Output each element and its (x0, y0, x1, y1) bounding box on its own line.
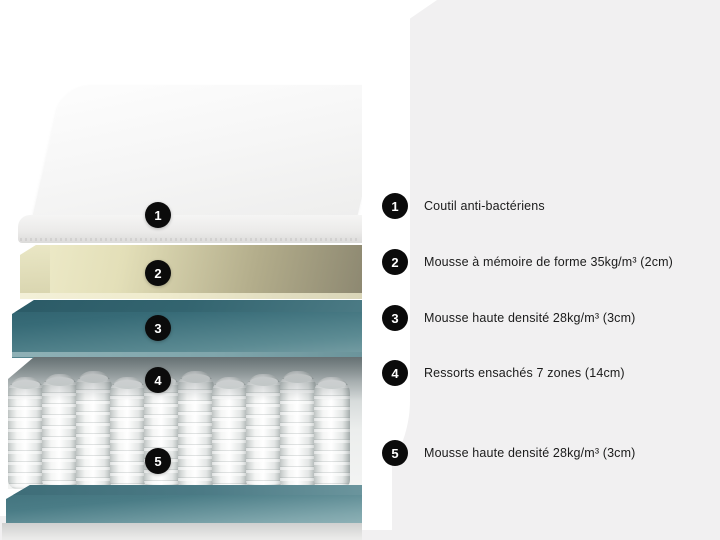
legend-item-4: 4Ressorts ensachés 7 zones (14cm) (382, 360, 625, 386)
legend-label-1: Coutil anti-bactériens (424, 199, 545, 213)
legend-badge-2: 2 (382, 249, 408, 275)
legend-item-2: 2Mousse à mémoire de forme 35kg/m³ (2cm) (382, 249, 673, 275)
pocket-spring (178, 371, 214, 489)
pocket-spring (212, 377, 248, 489)
layer-1-cover-top-surface (29, 85, 387, 230)
legend-item-5: 5Mousse haute densité 28kg/m³ (3cm) (382, 440, 635, 466)
layer-2-memory-foam-side (20, 245, 50, 298)
legend-label-3: Mousse haute densité 28kg/m³ (3cm) (424, 311, 635, 325)
pocket-spring (8, 377, 44, 489)
legend-label-4: Ressorts ensachés 7 zones (14cm) (424, 366, 625, 380)
pocket-spring (42, 374, 78, 489)
mattress-cutaway-illustration (0, 60, 365, 520)
diagram-badge-5: 5 (145, 448, 171, 474)
layer-1-cover-stitching (20, 238, 360, 241)
diagram-badge-4: 4 (145, 367, 171, 393)
layer-3-top-highlight (12, 300, 362, 312)
layer-4-pocket-springs (8, 357, 362, 489)
pocket-spring (280, 371, 316, 489)
infographic-canvas: 12345 1Coutil anti-bactériens2Mousse à m… (0, 0, 720, 540)
layer-2-memory-foam (20, 245, 362, 298)
diagram-badge-3: 3 (145, 315, 171, 341)
legend-label-5: Mousse haute densité 28kg/m³ (3cm) (424, 446, 635, 460)
diagram-badge-2: 2 (145, 260, 171, 286)
mattress-base-cover (2, 523, 362, 540)
legend-badge-1: 1 (382, 193, 408, 219)
legend-badge-4: 4 (382, 360, 408, 386)
legend-badge-3: 3 (382, 305, 408, 331)
legend-badge-5: 5 (382, 440, 408, 466)
pocket-spring (110, 377, 146, 489)
pocket-spring (246, 374, 282, 489)
legend-item-1: 1Coutil anti-bactériens (382, 193, 545, 219)
legend-item-3: 3Mousse haute densité 28kg/m³ (3cm) (382, 305, 635, 331)
pocket-spring (76, 371, 112, 489)
layer-5-top-highlight (6, 485, 362, 495)
diagram-badge-1: 1 (145, 202, 171, 228)
pocket-spring-row (8, 357, 362, 489)
legend-label-2: Mousse à mémoire de forme 35kg/m³ (2cm) (424, 255, 673, 269)
pocket-spring (314, 377, 350, 489)
layer-legend: 1Coutil anti-bactériens2Mousse à mémoire… (382, 0, 720, 540)
layer-2-memory-foam-edge (20, 293, 362, 299)
layer-3-bottom-edge (12, 352, 362, 357)
